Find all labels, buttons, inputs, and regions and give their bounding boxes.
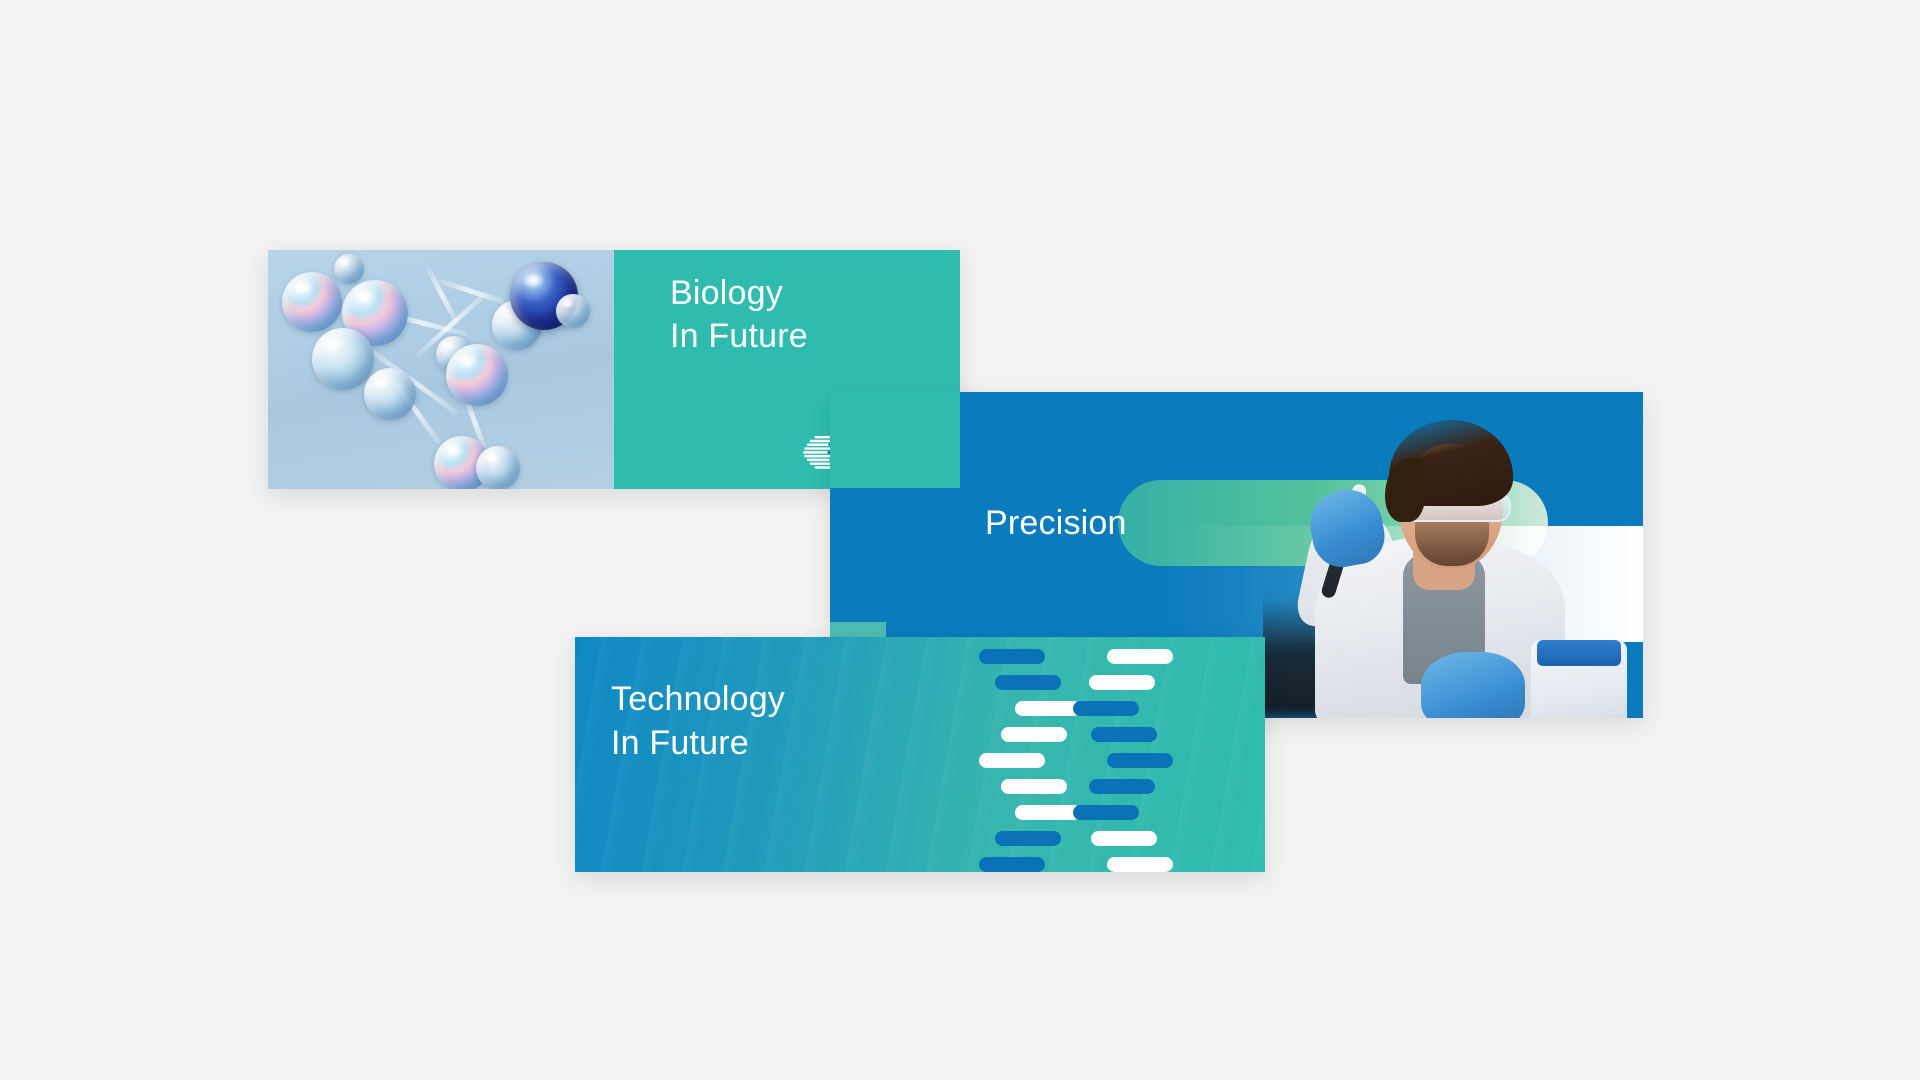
dna-band xyxy=(979,857,1045,872)
dna-band xyxy=(1015,805,1081,820)
reagent-bottle-cap xyxy=(1537,640,1621,666)
dna-band xyxy=(1089,675,1155,690)
dna-band xyxy=(1001,779,1067,794)
dna-band xyxy=(979,649,1045,664)
dna-band xyxy=(1001,727,1067,742)
dna-band xyxy=(1073,805,1139,820)
precision-title: Precision xyxy=(985,504,1127,543)
molecule-atom xyxy=(446,344,508,406)
dna-band xyxy=(979,753,1045,768)
dna-band xyxy=(1015,701,1081,716)
dna-band xyxy=(995,831,1061,846)
molecule-atom xyxy=(312,328,374,390)
precision-teal-accent-top xyxy=(830,392,960,488)
molecule-atom xyxy=(282,272,342,332)
molecule-atom xyxy=(476,446,520,489)
biology-title: Biology In Future xyxy=(670,272,808,358)
banner-collage-stage: Biology In Future xyxy=(0,0,1920,1080)
technology-title: Technology In Future xyxy=(611,677,785,765)
dna-band xyxy=(1073,701,1139,716)
dna-band xyxy=(1091,727,1157,742)
molecule-image xyxy=(268,250,614,489)
molecule-atom xyxy=(556,294,590,328)
gloved-hand-lower xyxy=(1421,652,1525,718)
molecule-bond xyxy=(426,267,460,324)
dna-band xyxy=(1091,831,1157,846)
dna-gel-graphic xyxy=(979,649,1179,864)
molecule-atom xyxy=(334,254,364,284)
dna-band xyxy=(995,675,1061,690)
technology-card[interactable]: Technology In Future xyxy=(575,637,1265,872)
dna-band xyxy=(1107,753,1173,768)
dna-band xyxy=(1107,857,1173,872)
dna-band xyxy=(1089,779,1155,794)
molecule-atom xyxy=(364,368,416,420)
scientist-photo xyxy=(1263,392,1643,718)
dna-band xyxy=(1107,649,1173,664)
